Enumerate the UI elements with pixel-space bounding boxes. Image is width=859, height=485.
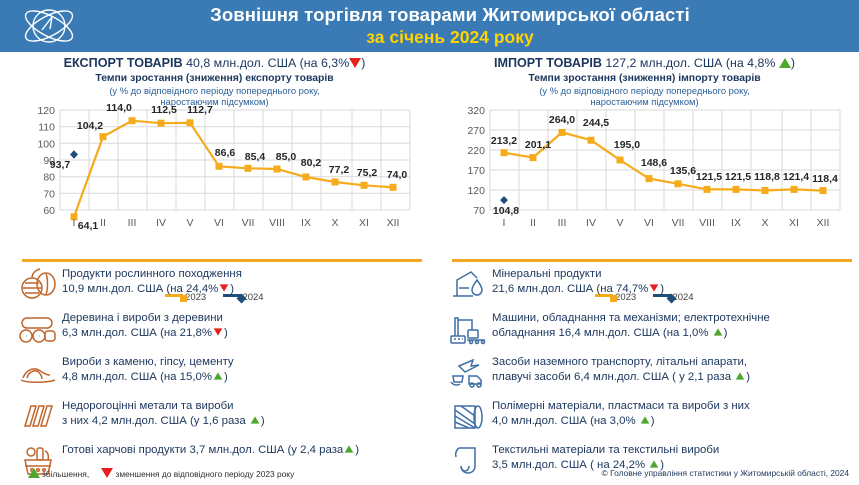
item-line2: 10,9 млн.дол. США (на 24,4%) <box>62 282 242 297</box>
svg-text:118,8: 118,8 <box>754 171 780 183</box>
svg-text:VI: VI <box>214 217 224 229</box>
svg-text:100: 100 <box>37 138 55 150</box>
export-label: ЕКСПОРТ ТОВАРІВ <box>64 56 183 70</box>
trend-up-icon <box>28 468 40 478</box>
trend-down-icon <box>220 284 229 291</box>
list-item-text: Готові харчові продукти 3,7 млн.дол. США… <box>62 440 359 458</box>
svg-text:85,4: 85,4 <box>245 151 266 163</box>
list-item: Деревина і вироби з деревини 6,3 млн.дол… <box>14 308 434 348</box>
footer-legend-down: зменшення до відповідного періоду 2023 р… <box>115 469 294 479</box>
divider-export <box>22 259 422 262</box>
list-item: Продукти рослинного походження 10,9 млн.… <box>14 264 434 304</box>
item-line1: Вироби з каменю, гіпсу, цементу <box>62 356 234 368</box>
item-line1: Полімерні матеріали, пластмаси та вироби… <box>492 400 750 412</box>
export-chart: 120 110 100 90 80 70 60 <box>14 104 418 232</box>
svg-text:VI: VI <box>644 217 654 229</box>
svg-text:74,0: 74,0 <box>387 169 408 181</box>
svg-text:104,2: 104,2 <box>77 120 103 132</box>
wood-logs-icon <box>14 308 62 348</box>
item-line1: Недорогоцінні метали та вироби <box>62 400 233 412</box>
list-item: Полімерні матеріали, пластмаси та вироби… <box>444 396 859 436</box>
item-line2: з них 4,2 млн.дол. США (у 1,6 раза ) <box>62 414 265 429</box>
oil-pump-icon <box>444 264 492 304</box>
svg-text:III: III <box>558 217 567 229</box>
page-footer: збільшення, зменшення до відповідного пе… <box>0 464 859 485</box>
svg-text:80,2: 80,2 <box>301 157 322 169</box>
svg-text:93,7: 93,7 <box>50 159 71 171</box>
svg-text:VII: VII <box>672 217 685 229</box>
svg-text:121,5: 121,5 <box>696 171 722 183</box>
trend-up-icon <box>713 328 722 335</box>
svg-text:IX: IX <box>731 217 741 229</box>
svg-text:70: 70 <box>473 205 485 217</box>
svg-text:110: 110 <box>38 122 55 134</box>
svg-text:II: II <box>100 217 106 229</box>
svg-text:75,2: 75,2 <box>357 167 378 179</box>
export-section: ЕКСПОРТ ТОВАРІВ 40,8 млн.дол. США (на 6,… <box>0 52 429 250</box>
item-line2: 21,6 млн.дол. США (на 74,7%) <box>492 282 664 297</box>
import-headline: ІМПОРТ ТОВАРІВ 127,2 млн.дол. США (на 4,… <box>430 52 859 71</box>
list-item: Мінеральні продукти 21,6 млн.дол. США (н… <box>444 264 859 304</box>
export-2024-marker <box>70 150 78 159</box>
import-subtitle2-line1: (у % до відповідного періоду попередньог… <box>430 85 859 96</box>
svg-text:X: X <box>761 217 768 229</box>
item-line1: Продукти рослинного походження <box>62 268 242 280</box>
item-line1: Засоби наземного транспорту, літальні ап… <box>492 356 747 368</box>
svg-text:VIII: VIII <box>269 217 285 229</box>
footer-legend: збільшення, зменшення до відповідного пе… <box>26 468 294 479</box>
export-subtitle2-line1: (у % до відповідного періоду попередньог… <box>0 85 429 96</box>
title-line-1: Зовнішня торгівля товарами Житомирської … <box>100 3 800 26</box>
svg-text:XII: XII <box>817 217 830 229</box>
svg-text:II: II <box>530 217 536 229</box>
page-title: Зовнішня торгівля товарами Житомирської … <box>100 3 800 48</box>
svg-text:112,5: 112,5 <box>151 104 177 116</box>
svg-text:V: V <box>616 217 623 229</box>
export-subtitle: Темпи зростання (зниження) експорту това… <box>0 73 429 85</box>
item-line2: 4,8 млн.дол. США (на 15,0%) <box>62 370 234 385</box>
svg-text:118,4: 118,4 <box>812 173 838 185</box>
svg-text:121,4: 121,4 <box>783 171 809 183</box>
svg-text:86,6: 86,6 <box>215 147 236 159</box>
svg-text:201,1: 201,1 <box>525 139 551 151</box>
svg-text:135,6: 135,6 <box>670 165 696 177</box>
footer-legend-up: збільшення, <box>42 469 89 479</box>
trend-up-icon <box>345 445 354 452</box>
list-item-text: Полімерні матеріали, пластмаси та вироби… <box>492 396 750 428</box>
svg-text:264,0: 264,0 <box>549 114 575 126</box>
import-items-list: Мінеральні продукти 21,6 млн.дол. США (н… <box>444 264 859 484</box>
item-line2: обладнання 16,4 млн.дол. США (на 1,0% ) <box>492 326 770 341</box>
svg-text:148,6: 148,6 <box>641 157 667 169</box>
title-line-2: за січень 2024 року <box>100 26 800 48</box>
svg-text:70: 70 <box>43 188 55 200</box>
svg-text:VII: VII <box>242 217 255 229</box>
item-line1: Текстильні матеріали та текстильні вироб… <box>492 444 719 456</box>
list-item: Машини, обладнання та механізми; електро… <box>444 308 859 348</box>
svg-text:112,7: 112,7 <box>187 104 213 116</box>
list-item-text: Машини, обладнання та механізми; електро… <box>492 308 770 340</box>
export-value: 40,8 млн.дол. США (на 6,3% <box>186 56 349 70</box>
import-chart: 320 270 220 170 120 70 <box>444 104 848 232</box>
item-line2: 6,3 млн.дол. США (на 21,8%) <box>62 326 228 341</box>
svg-text:XI: XI <box>789 217 799 229</box>
list-item-text: Деревина і вироби з деревини 6,3 млн.дол… <box>62 308 228 340</box>
item-line1: Деревина і вироби з деревини <box>62 312 223 324</box>
svg-text:270: 270 <box>467 125 485 137</box>
svg-text:170: 170 <box>467 165 485 177</box>
svg-text:85,0: 85,0 <box>276 151 297 163</box>
trend-down-icon <box>349 58 361 68</box>
machinery-icon <box>444 308 492 348</box>
svg-text:220: 220 <box>467 145 485 157</box>
list-item-text: Засоби наземного транспорту, літальні ап… <box>492 352 750 384</box>
svg-text:114,0: 114,0 <box>106 104 132 114</box>
atom-globe-logo <box>6 2 92 50</box>
svg-text:V: V <box>186 217 193 229</box>
list-item-text: Продукти рослинного походження 10,9 млн.… <box>62 264 242 296</box>
import-2024-marker <box>500 196 508 204</box>
svg-text:VIII: VIII <box>699 217 715 229</box>
trend-up-icon <box>779 58 791 68</box>
trend-down-icon <box>650 284 659 291</box>
item-line1: Мінеральні продукти <box>492 268 602 280</box>
import-value: 127,2 млн.дол. США (на 4,8% <box>605 56 775 70</box>
base-metals-icon <box>14 396 62 436</box>
list-item-text: Вироби з каменю, гіпсу, цементу 4,8 млн.… <box>62 352 234 384</box>
import-subtitle: Темпи зростання (зниження) імпорту товар… <box>430 73 859 85</box>
list-item-text: Мінеральні продукти 21,6 млн.дол. США (н… <box>492 264 664 296</box>
svg-text:195,0: 195,0 <box>614 139 640 151</box>
svg-text:320: 320 <box>467 105 485 117</box>
svg-text:X: X <box>331 217 338 229</box>
trend-down-icon <box>214 328 223 335</box>
import-value-tail: ) <box>791 56 795 70</box>
trend-up-icon <box>640 416 649 423</box>
svg-text:244,5: 244,5 <box>583 117 609 129</box>
page-header: Зовнішня торгівля товарами Житомирської … <box>0 0 859 52</box>
polymer-materials-icon <box>444 396 492 436</box>
trend-down-icon <box>101 468 113 478</box>
svg-text:60: 60 <box>43 205 55 217</box>
svg-text:I: I <box>503 217 506 229</box>
import-chart-svg: 320 270 220 170 120 70 <box>444 104 848 232</box>
svg-text:I: I <box>73 217 76 229</box>
svg-text:XII: XII <box>387 217 400 229</box>
list-item: Вироби з каменю, гіпсу, цементу 4,8 млн.… <box>14 352 434 392</box>
svg-text:IX: IX <box>301 217 311 229</box>
svg-text:XI: XI <box>359 217 369 229</box>
export-value-tail: ) <box>361 56 365 70</box>
svg-text:IV: IV <box>586 217 596 229</box>
svg-text:IV: IV <box>156 217 166 229</box>
item-line2: 4,0 млн.дол. США (на 3,0% ) <box>492 414 750 429</box>
svg-text:213,2: 213,2 <box>491 135 517 147</box>
list-item: Засоби наземного транспорту, літальні ап… <box>444 352 859 392</box>
item-line2: плавучі засоби 6,4 млн.дол. США ( у 2,1 … <box>492 370 750 385</box>
svg-text:121,5: 121,5 <box>725 171 751 183</box>
plant-products-icon <box>14 264 62 304</box>
transport-vehicles-icon <box>444 352 492 392</box>
import-label: ІМПОРТ ТОВАРІВ <box>494 56 602 70</box>
import-section: ІМПОРТ ТОВАРІВ 127,2 млн.дол. США (на 4,… <box>430 52 859 250</box>
item-line2: Готові харчові продукти 3,7 млн.дол. США… <box>62 443 359 458</box>
svg-text:80: 80 <box>43 172 55 184</box>
svg-text:64,1: 64,1 <box>78 220 99 232</box>
export-chart-svg: 120 110 100 90 80 70 60 <box>14 104 418 232</box>
svg-text:77,2: 77,2 <box>329 164 350 176</box>
svg-text:III: III <box>128 217 137 229</box>
trend-up-icon <box>736 372 745 379</box>
footer-copyright: © Головне управління статистики у Житоми… <box>602 468 849 478</box>
svg-text:120: 120 <box>37 105 55 117</box>
export-headline: ЕКСПОРТ ТОВАРІВ 40,8 млн.дол. США (на 6,… <box>0 52 429 71</box>
export-items-list: Продукти рослинного походження 10,9 млн.… <box>14 264 434 484</box>
svg-text:104,8: 104,8 <box>493 205 519 217</box>
trend-up-icon <box>214 372 223 379</box>
list-item: Недорогоцінні метали та вироби з них 4,2… <box>14 396 434 436</box>
divider-import <box>452 259 852 262</box>
item-line1: Машини, обладнання та механізми; електро… <box>492 312 770 324</box>
trend-up-icon <box>251 416 260 423</box>
list-item-text: Недорогоцінні метали та вироби з них 4,2… <box>62 396 265 428</box>
svg-text:120: 120 <box>467 185 485 197</box>
stone-gypsum-cement-icon <box>14 352 62 392</box>
